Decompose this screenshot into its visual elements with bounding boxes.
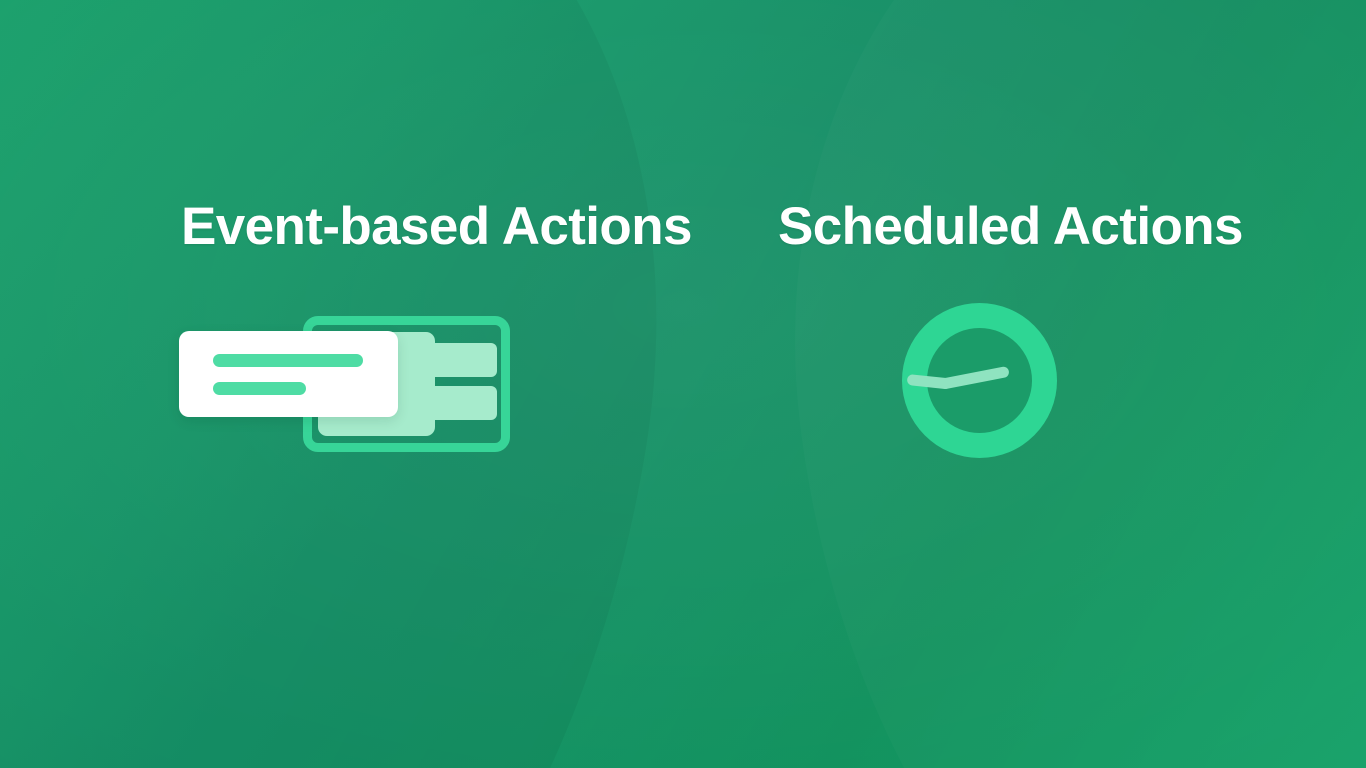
event-block-2 — [420, 386, 497, 420]
event-cards-icon — [178, 312, 518, 460]
event-block-1 — [420, 343, 497, 377]
heading-scheduled: Scheduled Actions — [778, 200, 1243, 253]
slide-canvas: Event-based Actions Scheduled Actions — [0, 0, 1366, 768]
event-white-card — [179, 331, 398, 417]
clock-icon — [902, 303, 1057, 458]
heading-event-based: Event-based Actions — [181, 200, 692, 253]
event-card-line-1 — [213, 354, 363, 367]
event-card-line-2 — [213, 382, 306, 395]
